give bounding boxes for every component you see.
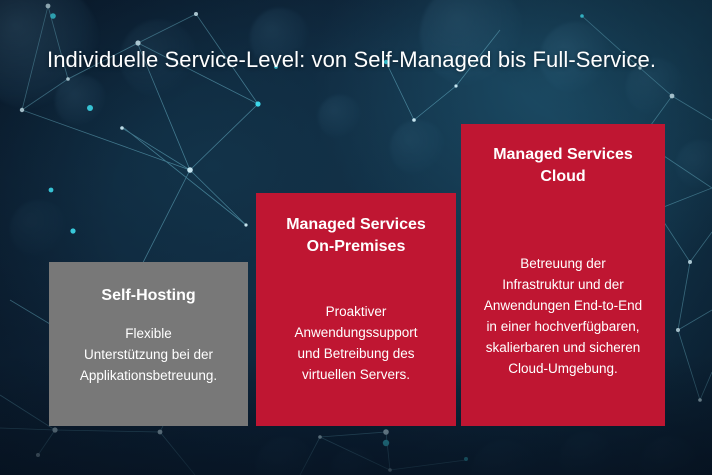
slide-canvas: Individuelle Service-Level: von Self-Man… [0, 0, 712, 475]
page-title: Individuelle Service-Level: von Self-Man… [47, 47, 656, 73]
card-title: Managed Services On-Premises [268, 214, 444, 258]
card-body: Proaktiver Anwendungssupport und Betreib… [268, 301, 444, 385]
card-title: Managed Services Cloud [473, 144, 653, 188]
card-body: Betreuung der Infrastruktur und der Anwe… [473, 253, 653, 379]
service-level-card-managed-services-cloud[interactable]: Managed Services Cloud Betreuung der Inf… [461, 124, 665, 426]
service-level-card-managed-services-on-premises[interactable]: Managed Services On-Premises Proaktiver … [256, 193, 456, 426]
service-level-card-self-hosting[interactable]: Self-Hosting Flexible Unterstützung bei … [49, 262, 248, 426]
card-body: Flexible Unterstützung bei der Applikati… [61, 323, 236, 386]
card-title: Self-Hosting [61, 285, 236, 307]
